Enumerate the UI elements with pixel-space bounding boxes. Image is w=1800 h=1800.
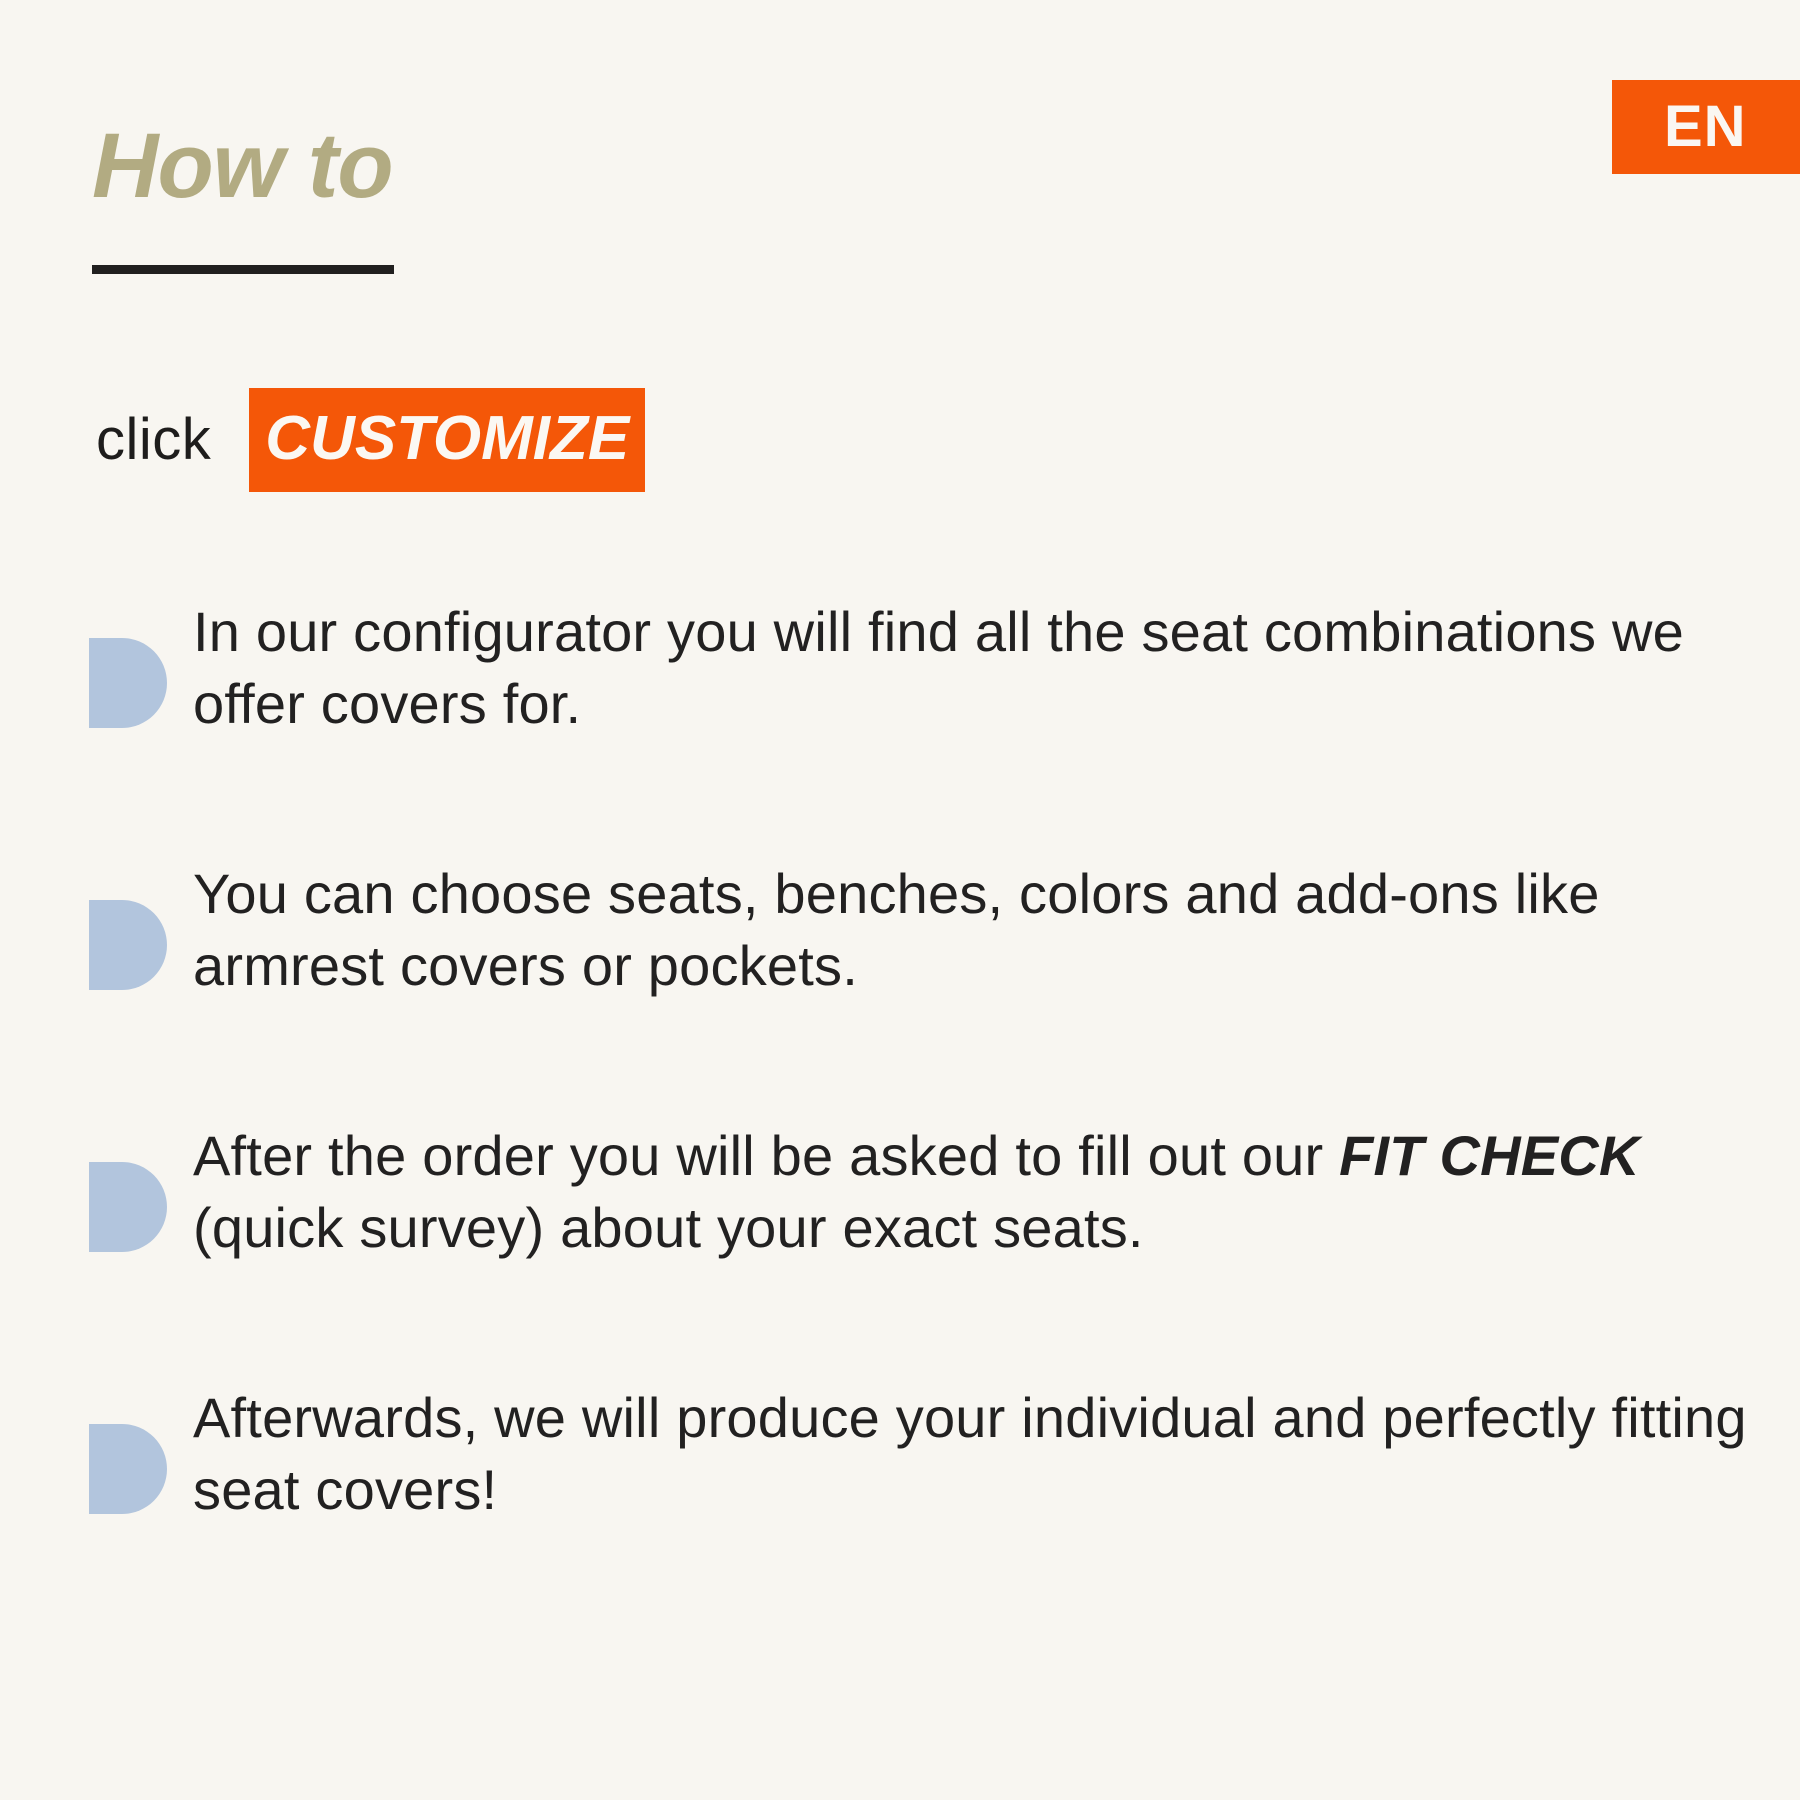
page-title: How to <box>92 118 393 215</box>
half-pill-marker-icon <box>89 900 167 990</box>
cta-instruction: click CUSTOMIZE <box>96 390 645 490</box>
half-pill-marker-icon <box>89 1162 167 1252</box>
list-item: After the order you will be asked to fil… <box>89 1120 1749 1270</box>
half-pill-marker-icon <box>89 1424 167 1514</box>
steps-list: In our configurator you will find all th… <box>89 596 1749 1532</box>
list-item-text: After the order you will be asked to fil… <box>193 1120 1749 1263</box>
list-item-text: Afterwards, we will produce your individ… <box>193 1382 1749 1525</box>
customize-button[interactable]: CUSTOMIZE <box>249 388 645 492</box>
list-item: Afterwards, we will produce your individ… <box>89 1382 1749 1532</box>
slide-canvas: EN How to click CUSTOMIZE In our configu… <box>0 0 1800 1800</box>
language-badge-label: EN <box>1664 98 1747 156</box>
list-item: You can choose seats, benches, colors an… <box>89 858 1749 1008</box>
half-pill-marker-icon <box>89 638 167 728</box>
list-item-text: You can choose seats, benches, colors an… <box>193 858 1749 1001</box>
list-item-text: In our configurator you will find all th… <box>193 596 1749 739</box>
cta-prefix-label: click <box>96 411 211 469</box>
title-underline-rule <box>92 265 394 274</box>
list-item: In our configurator you will find all th… <box>89 596 1749 746</box>
language-badge[interactable]: EN <box>1612 80 1800 174</box>
